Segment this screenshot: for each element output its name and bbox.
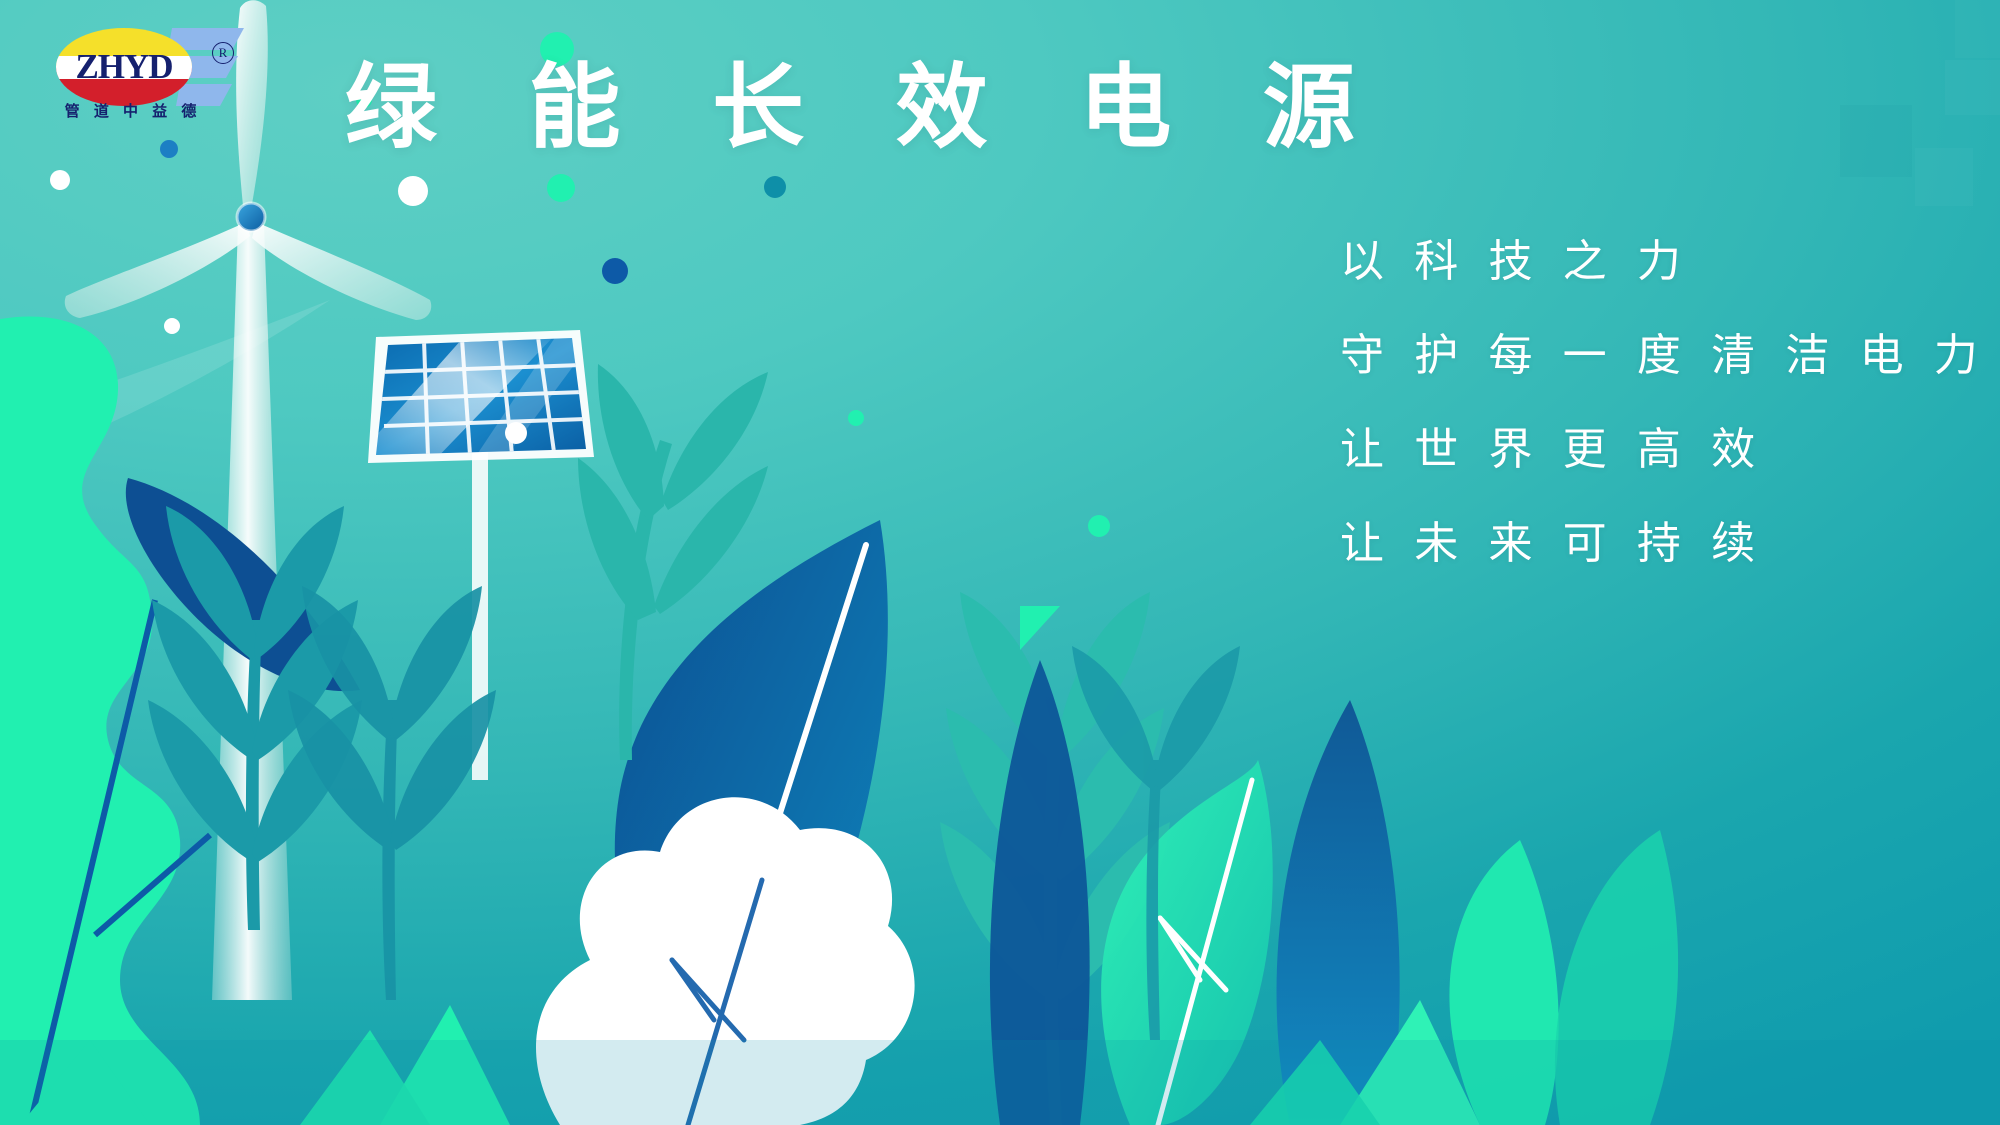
decor-dot-teal-1: [764, 176, 786, 198]
decorative-squares: [1840, 0, 2000, 206]
decor-dot-white-1: [398, 176, 428, 206]
logo-chinese-name: 管 道 中 益 德: [48, 100, 218, 121]
decor-dot-white-2: [50, 170, 70, 190]
poster-canvas: ZHYD R 管 道 中 益 德 绿 能 长 效 电 源 以 科 技 之 力 守…: [0, 0, 2000, 1125]
logo-wordmark: ZHYD: [56, 28, 192, 106]
tagline-line-2: 守 护 每 一 度 清 洁 电 力: [1340, 334, 1960, 378]
decor-dot-blue-2: [602, 258, 628, 284]
tagline-block: 以 科 技 之 力 守 护 每 一 度 清 洁 电 力 让 世 界 更 高 效 …: [1340, 240, 1960, 616]
company-logo[interactable]: ZHYD R 管 道 中 益 德: [48, 14, 244, 126]
decor-dot-blue-1: [160, 140, 178, 158]
tagline-line-3: 让 世 界 更 高 效: [1340, 428, 1960, 472]
tagline-line-1: 以 科 技 之 力: [1340, 240, 1960, 284]
decor-dot-mint-4: [848, 410, 864, 426]
registered-trademark-icon: R: [212, 42, 234, 64]
tagline-line-4: 让 未 来 可 持 续: [1340, 522, 1960, 566]
decor-dot-mint-3: [547, 174, 575, 202]
page-title: 绿 能 长 效 电 源: [345, 62, 1388, 154]
decor-dot-mint-5: [1088, 515, 1110, 537]
decor-dot-white-3: [164, 318, 180, 334]
